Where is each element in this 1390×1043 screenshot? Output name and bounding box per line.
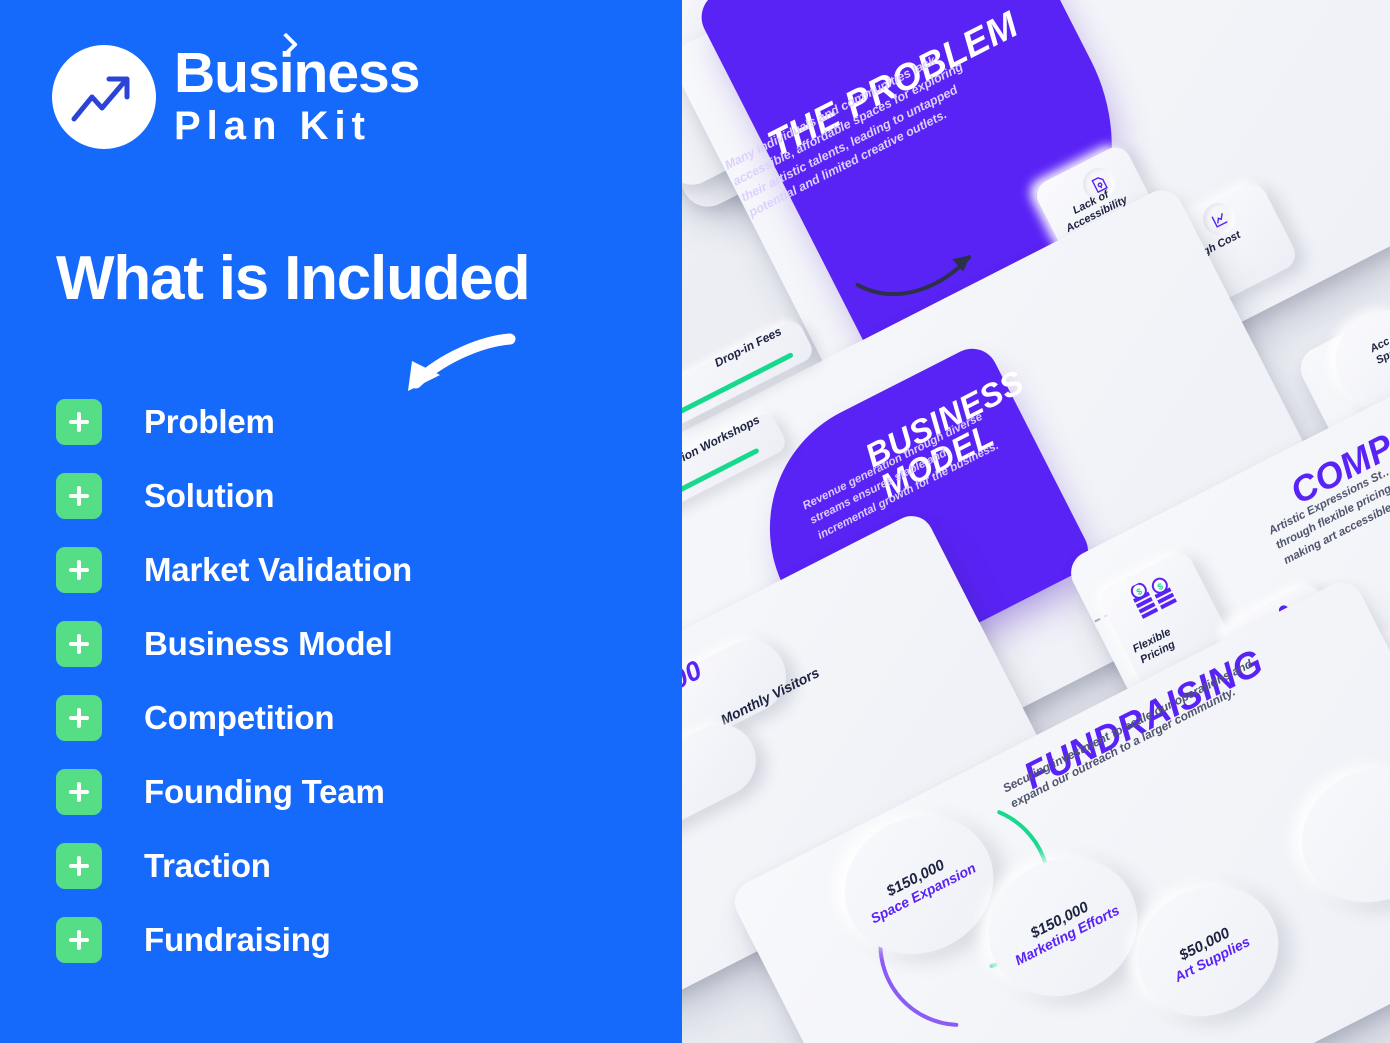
poster-root: THE PROBLEM Many individuals and communi… (0, 0, 1390, 1043)
list-item-label: Founding Team (144, 773, 385, 811)
plus-icon (56, 473, 102, 519)
list-item-label: Business Model (144, 625, 392, 663)
list-item-label: Market Validation (144, 551, 412, 589)
list-item-label: Problem (144, 403, 275, 441)
plus-icon (56, 399, 102, 445)
plus-icon (56, 621, 102, 667)
brand-post: ness (294, 41, 420, 105)
list-item-label: Fundraising (144, 921, 331, 959)
plus-icon (56, 769, 102, 815)
left-panel: Business Plan Kit What is Included Probl… (0, 0, 682, 1043)
plus-icon (56, 547, 102, 593)
list-item[interactable]: Problem (56, 385, 616, 459)
list-item[interactable]: Traction (56, 829, 616, 903)
included-items-list: Problem Solution Market Validation Busin… (56, 385, 616, 977)
list-item[interactable]: Founding Team (56, 755, 616, 829)
brand-pre: Bus (174, 41, 279, 105)
page-title: What is Included (56, 243, 529, 314)
plus-icon (56, 843, 102, 889)
brand-name-line1: Business (174, 46, 419, 102)
brand-plan: Plan (174, 104, 282, 148)
list-item[interactable]: Competition (56, 681, 616, 755)
list-item[interactable]: Market Validation (56, 533, 616, 607)
list-item-label: Competition (144, 699, 334, 737)
plus-icon (56, 695, 102, 741)
list-item-label: Traction (144, 847, 271, 885)
brand-kit: Kit (300, 104, 371, 148)
list-item[interactable]: Fundraising (56, 903, 616, 977)
brand-i-circumflex: i (279, 41, 294, 105)
brand-logo[interactable]: Business Plan Kit (52, 45, 419, 149)
list-item[interactable]: Business Model (56, 607, 616, 681)
list-item-label: Solution (144, 477, 274, 515)
growth-chart-arrow-icon (52, 45, 156, 149)
plus-icon (56, 917, 102, 963)
brand-name-line2: Plan Kit (174, 104, 419, 148)
list-item[interactable]: Solution (56, 459, 616, 533)
